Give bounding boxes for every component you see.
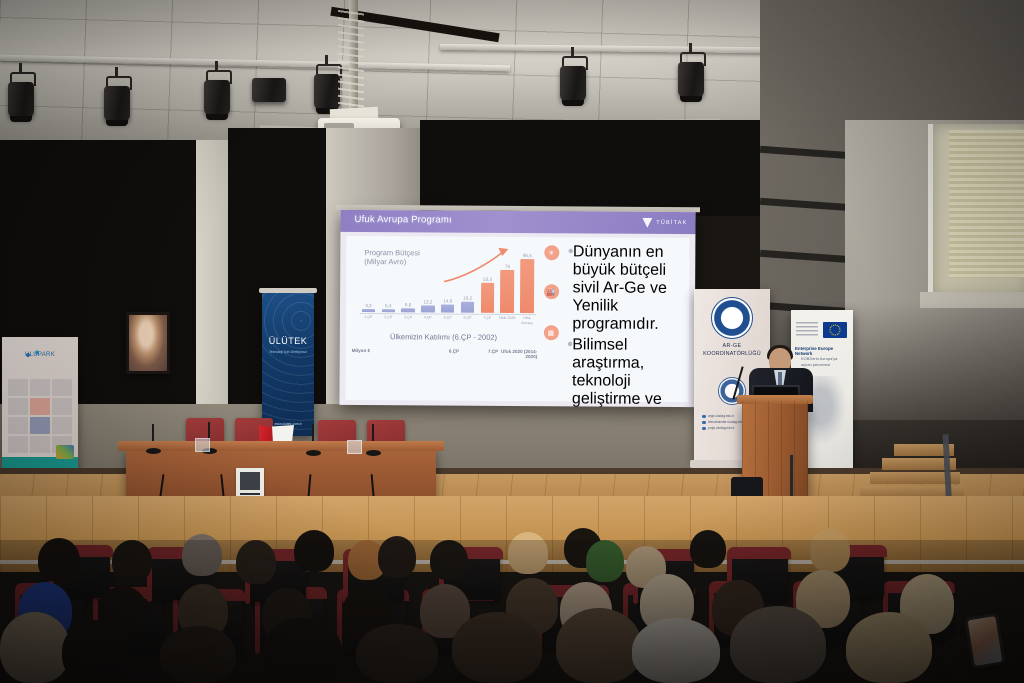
chart-bar-column: 76 [499,247,516,313]
chart-bar-value-label: 6,6 [405,303,411,308]
chart-bar [362,309,375,312]
chart-bar [481,283,495,313]
light-housing [252,78,286,102]
arge-banner-line1: AR-GE [694,343,770,349]
tubitak-logo-text: TÜBİTAK [656,220,687,226]
chart-bar [381,309,394,312]
chart-bar-column: 14,9 [439,247,456,313]
een-partner-logo [796,322,818,336]
sponsor-logo [8,398,28,415]
slide-body: Program Bütçesi (Milyar Avro) 3,35,46,61… [345,236,689,402]
poster-text-line [240,493,260,495]
ulutek-banner-tagline: Teknoloji İçin Üretiyoruz [262,350,314,354]
chart-bar [500,270,514,313]
table-column-header: 6.ÇP [418,348,459,407]
light-housing [678,62,704,98]
chart-bar-column: 19,2 [459,247,476,313]
bullet-text-column: Dünyanın en büyük bütçeli sivil Ar-Ge ve… [564,243,687,407]
chart-x-tick: 4.ÇP [419,316,436,325]
university-seal-icon [711,297,753,339]
microphone-base [306,450,321,456]
chart-x-tick-labels: 1.ÇP2.ÇP3.ÇP4.ÇP5.ÇP6.ÇP7.ÇPUfuk 2020Ufu… [360,315,536,325]
sponsor-logo [8,417,28,434]
bullet-icon-column: ✳ 🏭 ▦ [543,245,564,340]
chart-x-tick: 1.ÇP [360,315,377,324]
light-lens [680,96,702,102]
banner-pattern [262,292,314,436]
sponsor-logo-grid [8,379,72,451]
chart-bar-value-label: 5,4 [385,303,391,308]
chart-bar-value-label: 76 [505,264,510,269]
sponsor-logo [30,379,50,396]
chart-bar-value-label: 53,3 [483,277,492,282]
table-header-row: Milyon €6.ÇP7.ÇPUfuk 2020 (2014-2020) [350,346,537,407]
ulutek-rollup-banner: ÜLÜTEK Teknoloji İçin Üretiyoruz www.ulu… [262,292,314,436]
chart-bar-value-label: 19,2 [463,296,472,301]
chart-bar-value-label: 3,3 [365,303,371,308]
ataturk-portrait [126,312,170,374]
window-blinds [949,130,1024,278]
chart-bar [520,259,534,313]
poster-image [240,472,260,490]
chart-x-tick: 5.ÇP [439,316,456,325]
tubitak-mark-icon [642,218,652,228]
chart-icon: ▦ [543,325,558,340]
water-glass [347,440,362,454]
chart-bar [441,304,455,313]
chart-x-tick: Ufuk 2020 [499,316,516,325]
participation-table: Milyon €6.ÇP7.ÇPUfuk 2020 (2014-2020)Ulu… [345,346,537,407]
chart-x-tick: 2.ÇP [380,315,397,324]
tubitak-logo: TÜBİTAK [642,218,687,228]
factory-icon: 🏭 [544,284,559,299]
budget-bar-chart: 3,35,46,613,214,919,253,37695,5 1.ÇP2.ÇP… [354,246,538,325]
chart-x-tick: 7.ÇP [479,316,496,325]
chart-bar-column: 5,4 [380,246,397,312]
light-housing [104,86,130,122]
table-column-header: 7.ÇP [457,348,498,407]
sponsor-logo [30,398,50,415]
audience-shadow-overlay [0,540,1024,683]
sponsor-logo [52,417,72,434]
chart-bar-column: 13,2 [419,246,436,312]
light-housing [8,82,34,118]
microphone-base [146,448,161,454]
window [928,124,1024,296]
eu-flag-icon [823,322,847,338]
chart-bar [401,309,414,313]
slide-title: Ufuk Avrupa Programı [355,214,452,226]
slide-bullet-line: Bilimsel araştırma, teknoloji geliştirme… [567,336,687,407]
chart-bar-column: 3,3 [360,246,377,312]
sponsor-logo [52,379,72,396]
microphone-base [366,450,381,456]
atom-icon: ✳ [544,245,559,260]
chart-x-tick: 3.ÇP [400,315,417,324]
chart-x-tick: Ufuk Avrupa [519,316,536,325]
sponsor-logo [8,436,28,453]
sponsors-banner-logo: ULUPARK [10,347,70,363]
chart-bar-column: 53,3 [479,247,496,313]
slide-header: Ufuk Avrupa Programı TÜBİTAK [340,210,695,234]
sponsor-logo [30,417,50,434]
arge-banner-line2: KOORDİNATÖRLÜĞÜ [694,351,770,357]
table-top [118,441,444,451]
table-column-header: Ufuk 2020 (2014-2020) [498,348,538,407]
projection-screen: Ufuk Avrupa Programı TÜBİTAK Program Büt… [339,210,695,407]
slide-bullets-column: ✳ 🏭 ▦ Dünyanın en büyük bütçeli sivil Ar… [541,237,689,402]
table-column-header: Milyon € [350,348,420,408]
light-lens [562,100,584,106]
chart-bars: 3,35,46,613,214,919,253,37695,5 [360,246,536,313]
chart-bar [461,302,475,313]
light-housing [314,74,340,110]
light-lens [10,116,32,122]
chart-bar-column: 95,5 [519,247,536,313]
conference-hall-photo: Ufuk Avrupa Programı TÜBİTAK Program Büt… [0,0,1024,683]
ulutek-banner-name: ÜLÜTEK [262,336,314,346]
sponsor-logo [52,398,72,415]
light-housing [560,66,586,102]
water-glass [195,438,210,452]
participation-table-title: Ülkemizin Katılımı (6.ÇP - 2002) [346,332,542,342]
sponsor-logo [30,436,50,453]
chart-bar-column: 6,6 [400,246,417,312]
chart-x-tick: 6.ÇP [459,316,476,325]
wall-pillar-left [196,140,230,408]
sponsors-rollup-banner: ULUPARK [2,337,78,483]
een-banner-title: Enterprise Europe Network [795,346,849,356]
curtain-top-right [420,120,760,216]
chart-bar [421,305,434,313]
panel-table [126,448,436,500]
portrait-image [129,315,167,371]
light-lens [206,114,228,120]
light-housing [204,80,230,116]
chart-bar-value-label: 14,9 [443,298,452,303]
een-banner-subtitle: KOBİ'lerin Avrupa'ya açılan penceresi [801,356,849,367]
light-lens [106,120,128,126]
slide-bullet-line: Dünyanın en büyük bütçeli sivil Ar-Ge ve… [567,243,687,334]
chart-bar-value-label: 95,5 [523,253,532,258]
chart-bar-value-label: 13,2 [423,299,432,304]
sponsor-logo [8,379,28,396]
slide-chart-column: Program Bütçesi (Milyar Avro) 3,35,46,61… [345,236,541,401]
